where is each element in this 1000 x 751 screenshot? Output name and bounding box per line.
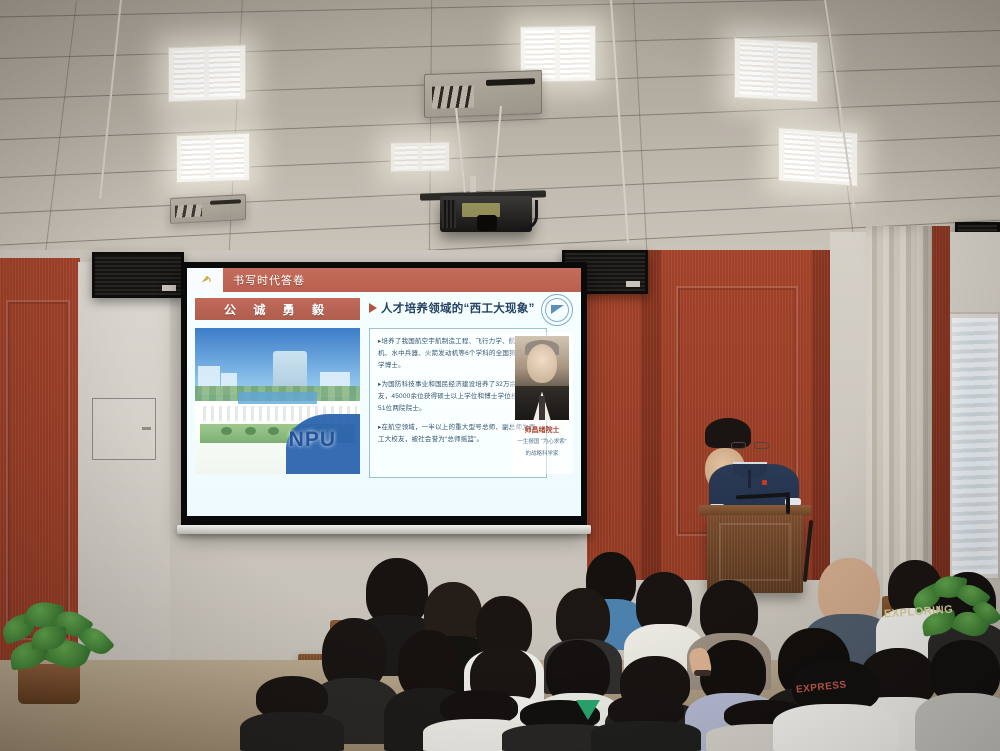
- slide-title: 书写时代答卷: [233, 272, 305, 288]
- portrait-subtitle-2: 的战略科学家: [515, 450, 569, 459]
- wall-speaker-left: [92, 252, 184, 298]
- portrait-photo: [515, 336, 569, 420]
- air-vent-icon: [424, 70, 542, 118]
- air-vent-icon: [170, 194, 246, 224]
- campus-photo: NPU: [195, 328, 360, 474]
- lecture-hall-scene: 书写时代答卷 公 诚 勇 毅 人才培养领域的“西工大现象”: [0, 0, 1000, 751]
- npu-logo-text: NPU: [289, 428, 336, 452]
- party-emblem-icon: [187, 268, 223, 292]
- screen-bottom-bar: [177, 525, 591, 534]
- window-wood-jamb: [930, 226, 950, 586]
- audience-member: [608, 694, 684, 751]
- potted-plant-left: [0, 572, 120, 702]
- portrait-subtitle-1: 一生报国 “为心求索”: [515, 438, 569, 447]
- presenter-placket: [748, 470, 751, 488]
- audience-member: [792, 660, 880, 751]
- window-glass: [952, 318, 998, 574]
- ceiling-light-panel: [734, 38, 818, 102]
- triangle-bullet-icon: [369, 303, 377, 313]
- projection-screen: 书写时代答卷 公 诚 勇 毅 人才培养领域的“西工大现象”: [181, 262, 587, 530]
- audience-member: [256, 676, 328, 751]
- presenter-badge: [762, 480, 767, 485]
- microphone-stem: [786, 492, 790, 514]
- portrait-name: 师昌绪院士: [515, 425, 569, 435]
- glasses-icon: [731, 442, 769, 449]
- window-frame: [946, 312, 1000, 580]
- wood-trim-column: [641, 250, 661, 580]
- slide-section-heading: 人才培养领域的“西工大现象”: [369, 300, 535, 316]
- slide-content: 书写时代答卷 公 诚 勇 毅 人才培养领域的“西工大现象”: [187, 268, 581, 516]
- npu-crest-icon: [541, 294, 573, 326]
- slide-motto-text: 公 诚 勇 毅: [224, 301, 331, 318]
- wood-trim-column: [812, 250, 830, 580]
- slide-motto: 公 诚 勇 毅: [195, 298, 360, 320]
- wrist-bracelet: [694, 670, 711, 676]
- slide-body: 公 诚 勇 毅 人才培养领域的“西工大现象”: [187, 292, 581, 516]
- slide-header-bar: 书写时代答卷: [187, 268, 581, 292]
- wall-access-hatch: [92, 398, 156, 460]
- ceiling-light-panel: [176, 133, 250, 184]
- ceiling-light-panel: [168, 45, 246, 103]
- slide-portrait-block: 师昌绪院士 一生报国 “为心求索” 的战略科学家: [511, 332, 573, 474]
- ceiling-light-panel: [390, 141, 450, 172]
- slide-section-title: 人才培养领域的“西工大现象”: [381, 300, 535, 316]
